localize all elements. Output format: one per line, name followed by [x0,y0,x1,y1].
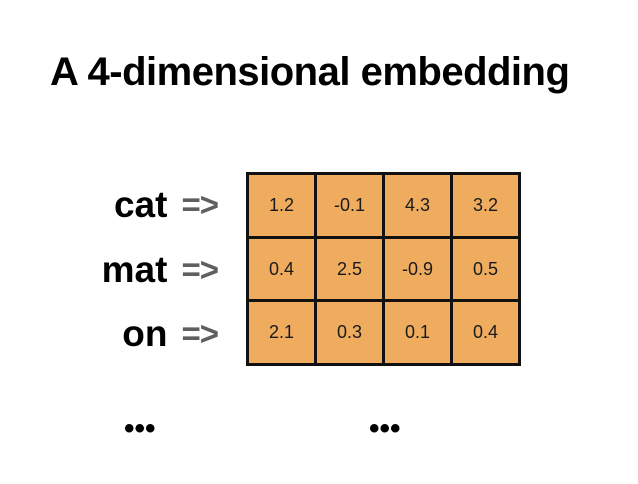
matrix-cell: 3.2 [453,175,518,236]
word-label-row-on: on => [40,301,230,366]
embedding-matrix: 1.2 -0.1 4.3 3.2 0.4 2.5 -0.9 0.5 2.1 0.… [246,172,521,366]
matrix-row: 0.4 2.5 -0.9 0.5 [249,239,518,303]
matrix-cell: 2.1 [249,302,317,363]
matrix-cell: 0.1 [385,302,453,363]
word-label-row-mat: mat => [40,237,230,302]
matrix-cell: 4.3 [385,175,453,236]
matrix-cell: 1.2 [249,175,317,236]
matrix-row: 1.2 -0.1 4.3 3.2 [249,175,518,239]
arrow-icon-cat: => [181,188,218,221]
matrix-cell: 0.5 [453,239,518,300]
matrix-cell: 0.3 [317,302,385,363]
matrix-row: 2.1 0.3 0.1 0.4 [249,302,518,363]
word-label-cat: cat [114,186,167,223]
matrix-cell: 2.5 [317,239,385,300]
matrix-cell: -0.1 [317,175,385,236]
arrow-icon-on: => [181,317,218,350]
ellipsis-indicator-right: ••• [369,414,401,444]
arrow-icon-mat: => [181,253,218,286]
matrix-cell: 0.4 [453,302,518,363]
word-label-list: cat => mat => on => [40,172,230,366]
ellipsis-indicator-left: ••• [124,414,156,444]
matrix-cell: -0.9 [385,239,453,300]
word-label-row-cat: cat => [40,172,230,237]
word-label-mat: mat [102,251,168,288]
page-title: A 4-dimensional embedding [50,48,610,96]
matrix-cell: 0.4 [249,239,317,300]
slide-canvas: A 4-dimensional embedding cat => mat => … [0,0,638,484]
word-label-on: on [122,315,167,352]
